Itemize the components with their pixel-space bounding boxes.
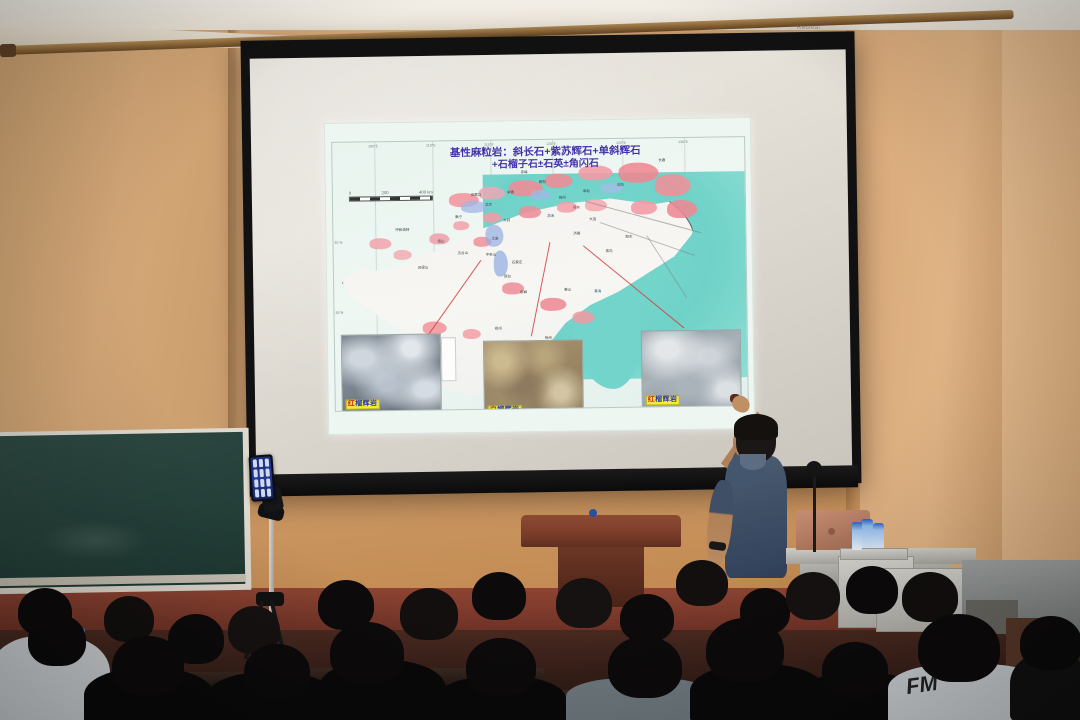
city-label: 大同	[503, 218, 510, 223]
mountain-label: 中条山	[486, 253, 497, 258]
outcrop-patch	[483, 213, 501, 223]
city-label: 邯郸	[520, 290, 527, 295]
microphone-icon	[806, 461, 822, 477]
scalebar-label-end: 400 km	[419, 189, 433, 194]
slide-title: 基性麻粒岩：斜长石+紫苏辉石+单斜辉石 +石榴子石±石英±角闪石	[390, 144, 700, 174]
podium-top	[521, 515, 681, 547]
city-label: 呼和浩特	[395, 228, 409, 233]
city-label: 沈阳	[617, 183, 624, 188]
app-icon[interactable]	[260, 479, 265, 488]
presenter-hair	[734, 414, 778, 440]
scalebar-label-0: 0	[349, 191, 351, 196]
inset-label-center-blue: 榴辉岩	[497, 406, 519, 412]
audience-head	[28, 614, 86, 666]
outcrop-patch	[631, 200, 657, 214]
presenter-collar	[740, 454, 766, 470]
laptop-logo-icon	[828, 528, 835, 535]
audience-head	[400, 588, 458, 640]
outcrop-patch	[572, 311, 594, 323]
outcrop-patch	[545, 174, 573, 188]
outcrop-patch	[479, 186, 505, 199]
app-icon[interactable]	[260, 488, 265, 497]
city-label: 承德	[507, 190, 514, 195]
audience-head	[472, 572, 526, 620]
city-label: 太原	[491, 237, 498, 242]
outcrop-patch	[394, 250, 412, 260]
outcrop-patch	[453, 221, 469, 230]
audience-head	[822, 642, 888, 698]
mountain-label: 吕梁山	[418, 266, 429, 271]
slide-map-canvas: 105°E 110°E 115°E 120°E 125°E 130°E 45°N…	[331, 136, 749, 412]
city-label: 集宁	[455, 215, 462, 220]
app-icon[interactable]	[264, 458, 269, 467]
outcrop-patch	[463, 329, 481, 339]
mountain-label: 五台山	[458, 251, 469, 256]
scalebar-label-mid: 200	[382, 190, 389, 195]
wall-far-right	[992, 10, 1080, 620]
app-icon[interactable]	[265, 468, 270, 477]
city-label: 丹东	[573, 205, 580, 210]
belt-patch	[531, 190, 551, 200]
audience-head	[620, 594, 674, 642]
cabinet-top	[840, 548, 908, 560]
inset-label-left-blue: 榴辉岩	[355, 400, 377, 407]
podium-mic-icon	[589, 509, 597, 517]
map-callout-box	[441, 337, 457, 381]
inset-label-right: 红榴辉岩	[646, 395, 680, 406]
app-icon[interactable]	[252, 459, 257, 468]
inset-label-center: 白榴辉岩	[488, 405, 522, 412]
water-bottle	[852, 522, 862, 550]
outcrop-patch	[540, 298, 566, 311]
app-icon[interactable]	[255, 489, 260, 498]
city-label: 张家口	[471, 193, 482, 198]
lon-tick-1: 105°E	[368, 144, 378, 148]
city-label: 郑州	[495, 327, 502, 332]
audience-head	[786, 572, 840, 620]
belt-patch	[461, 201, 487, 213]
water-bottle	[873, 523, 884, 551]
city-label: 北京	[485, 203, 492, 208]
city-label: 阜新	[583, 189, 590, 194]
outcrop-patch	[369, 238, 391, 249]
app-icon[interactable]	[259, 469, 264, 478]
curtain-rod-cap	[0, 44, 16, 58]
city-label: 石家庄	[512, 260, 523, 265]
audience-head	[846, 566, 898, 614]
smartphone-screen[interactable]	[250, 456, 273, 499]
sea-label: 黄海	[594, 289, 601, 294]
water-bottle	[861, 519, 873, 551]
city-label: 朝阳	[539, 180, 546, 185]
audience-head	[330, 622, 404, 684]
slide-title-line1: 基性麻粒岩：斜长石+紫苏辉石+单斜辉石	[450, 145, 641, 160]
sea-label: 渤海	[547, 214, 554, 219]
audience-head	[1020, 616, 1080, 670]
inset-photo-left: 红榴辉岩	[341, 333, 442, 411]
audience-head	[608, 636, 682, 698]
projected-slide: 105°E 110°E 115°E 120°E 125°E 130°E 45°N…	[324, 117, 755, 435]
app-icon[interactable]	[254, 479, 259, 488]
outcrop-patch	[667, 200, 697, 218]
city-label: 锦州	[559, 196, 566, 201]
tshirt-print: FM	[904, 670, 939, 700]
city-label: 济南	[573, 231, 580, 236]
mountain-label: 泰山	[564, 288, 571, 293]
outcrop-patch	[655, 174, 691, 197]
app-icon[interactable]	[266, 488, 271, 497]
chalk-smudge	[40, 520, 150, 560]
city-label: 邢台	[504, 274, 511, 279]
app-icon[interactable]	[266, 478, 271, 487]
map-scalebar: 0 200 400 km	[349, 189, 433, 201]
city-label: 青岛	[606, 249, 613, 254]
microphone-stand	[813, 468, 816, 552]
city-label: 大连	[589, 217, 596, 222]
app-icon[interactable]	[258, 459, 263, 468]
audience-head	[676, 560, 728, 606]
audience-head	[706, 618, 784, 682]
smartphone[interactable]	[248, 454, 275, 502]
audience-head	[244, 644, 310, 700]
audience-head	[556, 578, 612, 628]
audience-head	[112, 636, 184, 696]
mountain-label: 恒山	[437, 239, 444, 244]
outcrop-patch	[519, 206, 541, 218]
inset-photo-center: 白榴辉岩	[483, 339, 584, 411]
inset-label-right-blue: 榴辉岩	[655, 396, 677, 403]
audience-head	[466, 638, 536, 696]
inset-photo-right: 红榴辉岩	[641, 329, 742, 408]
chalkboard	[0, 432, 245, 588]
inset-label-left: 红榴辉岩	[346, 399, 380, 410]
region-label: 胶东	[625, 235, 632, 240]
lecture-hall-photo: Redleaf 105°E 110°E 115°E 120°E 125°E 13…	[0, 0, 1080, 720]
app-icon[interactable]	[253, 469, 258, 478]
